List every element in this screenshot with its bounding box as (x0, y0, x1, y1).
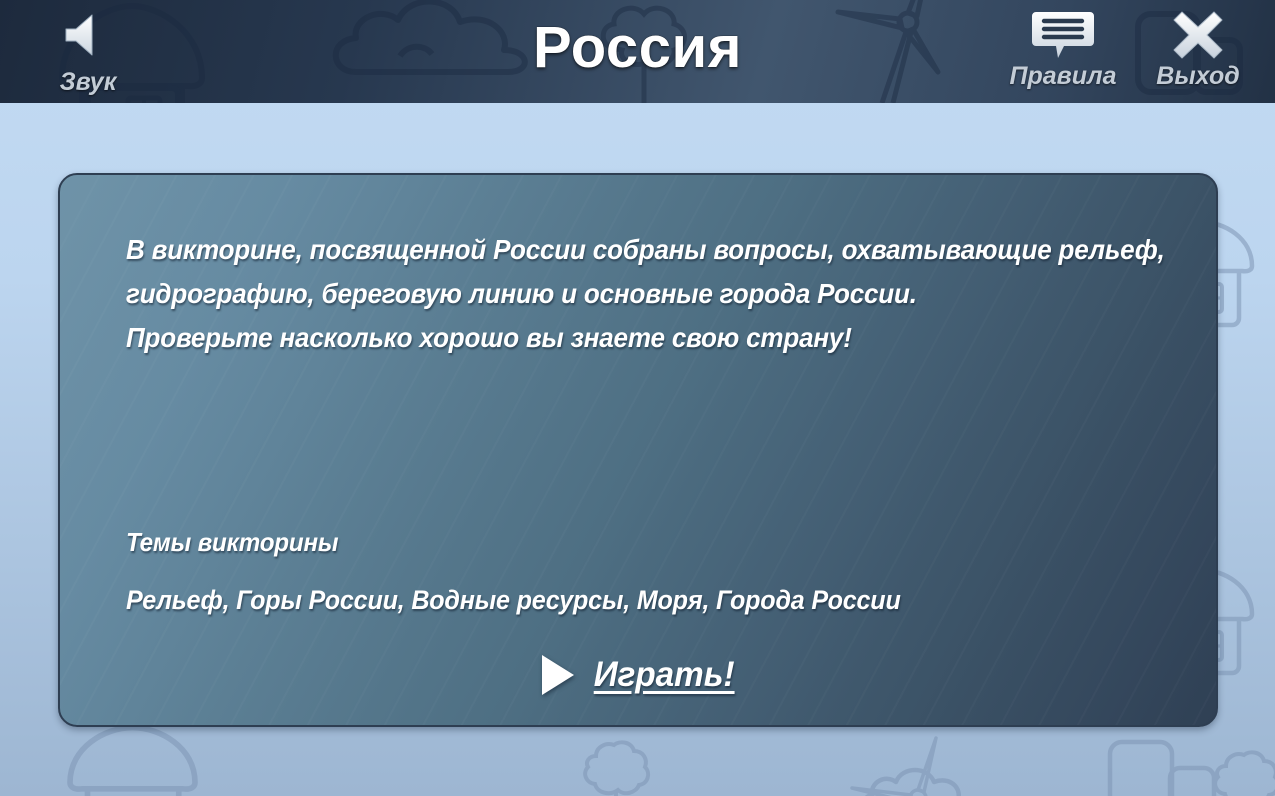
play-button[interactable]: Играть! (60, 655, 1218, 695)
quiz-start-screen: Россия Звук (0, 0, 1275, 796)
top-header-bar: Россия Звук (0, 0, 1275, 103)
rules-button[interactable]: Правила (993, 8, 1133, 89)
sound-button[interactable]: Звук (42, 12, 134, 95)
sound-button-label: Звук (42, 70, 134, 95)
topics-list: Рельеф, Горы России, Водные ресурсы, Мор… (126, 585, 901, 616)
topics-heading: Темы викторины (126, 527, 338, 558)
play-triangle-icon[interactable] (542, 655, 574, 695)
speech-bubble-icon[interactable] (1030, 8, 1096, 60)
description-line-2: гидрографию, береговую линию и основные … (126, 278, 917, 310)
rules-button-label: Правила (993, 64, 1133, 89)
play-button-label: Играть! (594, 655, 735, 695)
intro-panel: В викторине, посвященной России собраны … (58, 173, 1218, 727)
close-x-icon[interactable] (1170, 8, 1226, 60)
speaker-icon[interactable] (58, 12, 118, 58)
exit-button[interactable]: Выход (1133, 8, 1263, 89)
description-line-1: В викторине, посвященной России собраны … (126, 234, 1165, 266)
exit-button-label: Выход (1133, 64, 1263, 89)
description-line-3: Проверьте насколько хорошо вы знаете сво… (126, 322, 852, 354)
